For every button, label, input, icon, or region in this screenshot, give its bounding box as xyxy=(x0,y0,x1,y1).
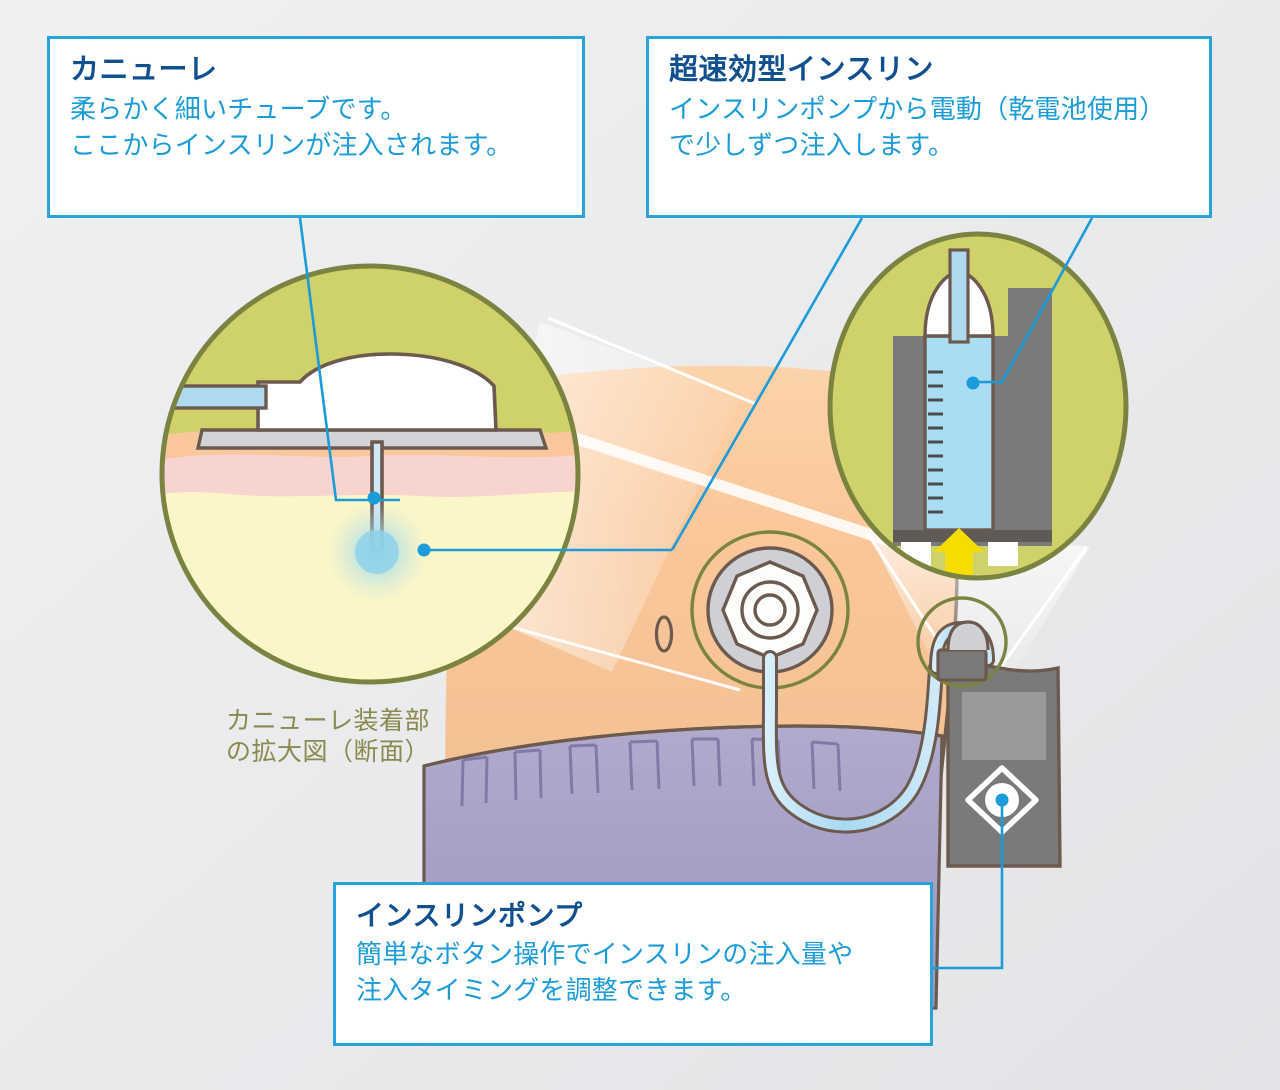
diagram-canvas: カニューレ 柔らかく細いチューブです。 ここからインスリンが注入されます。 超速… xyxy=(0,0,1280,1090)
magnifier-caption-line-1: カニューレ装着部 xyxy=(213,706,443,737)
callout-cannula: カニューレ 柔らかく細いチューブです。 ここからインスリンが注入されます。 xyxy=(47,36,585,218)
callout-cannula-title: カニューレ xyxy=(70,53,564,88)
magnifier-caption-line-2: の拡大図（断面） xyxy=(213,737,443,768)
callout-pump: インスリンポンプ 簡単なボタン操作でインスリンの注入量や 注入タイミングを調整で… xyxy=(333,882,933,1046)
insulin-reservoir-marker xyxy=(967,377,980,390)
pump-screen xyxy=(962,692,1046,760)
pump-button-marker xyxy=(996,794,1009,807)
callout-pump-line-2: 注入タイミングを調整できます。 xyxy=(356,973,912,1009)
callout-insulin: 超速効型インスリン インスリンポンプから電動（乾電池使用） で少しずつ注入します… xyxy=(646,36,1212,218)
insulin-cartridge-magnifier xyxy=(830,234,1126,578)
callout-cannula-line-1: 柔らかく細いチューブです。 xyxy=(70,92,564,128)
cannula-tip-marker xyxy=(368,492,381,505)
cannula-outlet-marker xyxy=(418,544,431,557)
callout-insulin-title: 超速効型インスリン xyxy=(669,53,1191,88)
magnifier-caption: カニューレ装着部 の拡大図（断面） xyxy=(213,706,443,769)
insulin-pump-device[interactable] xyxy=(948,666,1060,866)
callout-pump-title: インスリンポンプ xyxy=(356,899,912,933)
callout-insulin-line-1: インスリンポンプから電動（乾電池使用） xyxy=(669,92,1191,128)
callout-cannula-line-2: ここからインスリンが注入されます。 xyxy=(70,128,564,164)
callout-pump-line-1: 簡単なボタン操作でインスリンの注入量や xyxy=(356,937,912,973)
callout-insulin-line-2: で少しずつ注入します。 xyxy=(669,128,1191,164)
